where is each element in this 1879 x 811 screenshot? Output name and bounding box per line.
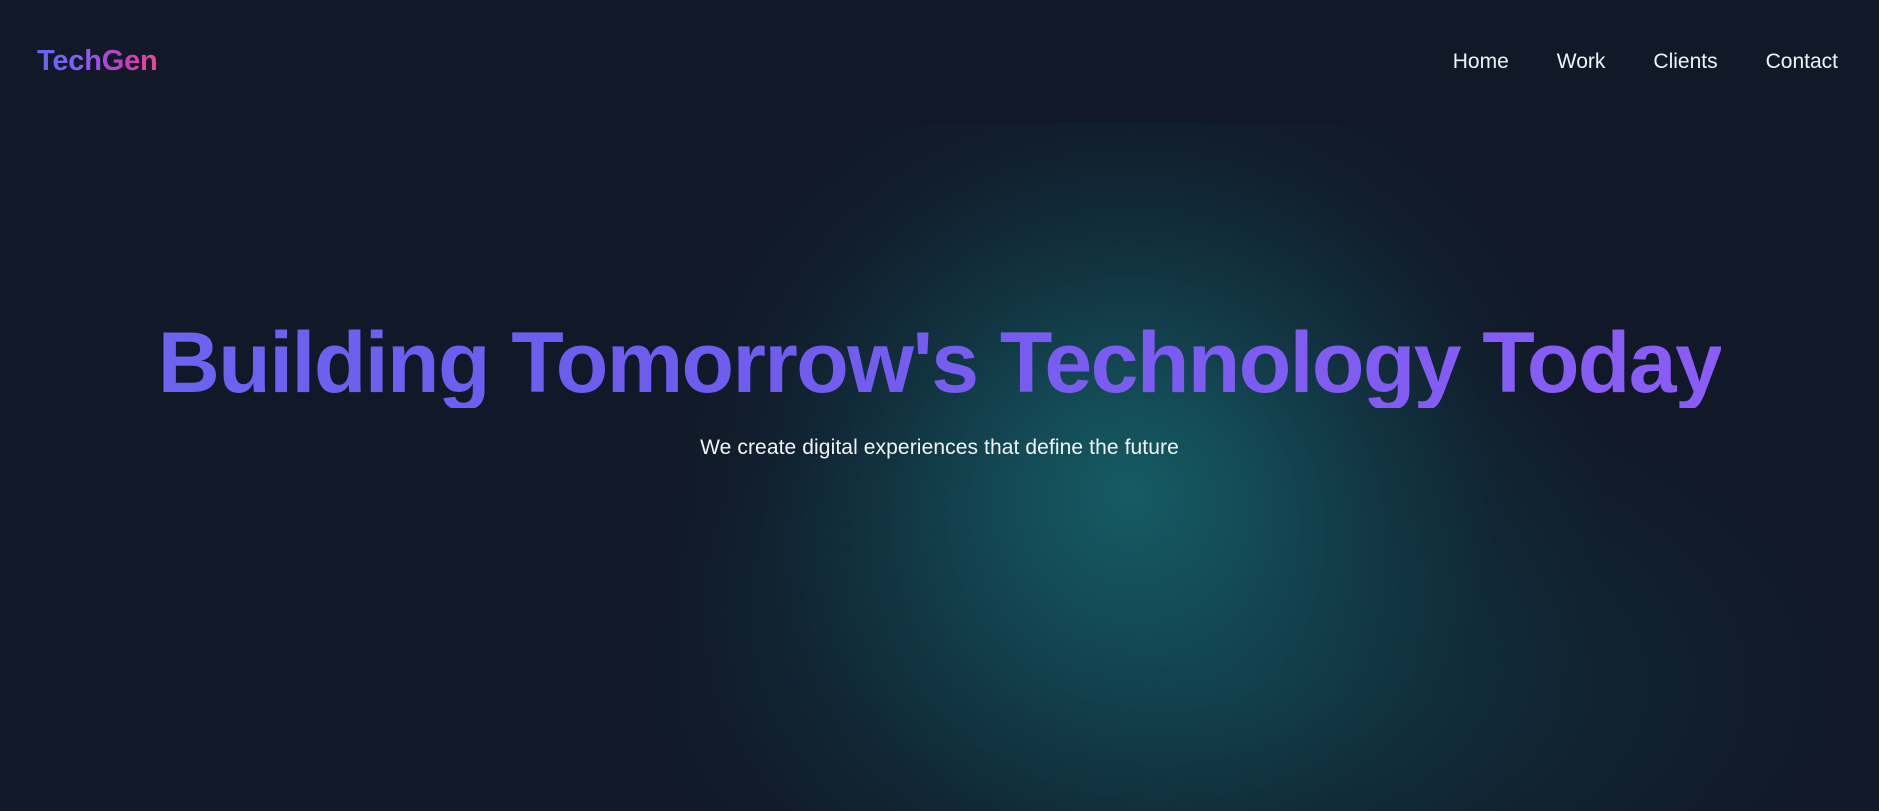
landing-page: TechGen Home Work Clients Contact bbox=[0, 0, 1879, 811]
brand-logo[interactable]: TechGen bbox=[37, 47, 158, 76]
hero-subheadline: We create digital experiences that defin… bbox=[700, 434, 1179, 461]
nav-link-home[interactable]: Home bbox=[1429, 41, 1533, 82]
nav-link-clients[interactable]: Clients bbox=[1629, 41, 1741, 82]
nav-item-contact: Contact bbox=[1742, 41, 1862, 82]
nav-item-work: Work bbox=[1533, 41, 1630, 82]
hero-section: Building Tomorrow's Technology Today We … bbox=[0, 123, 1879, 811]
main-navigation: Home Work Clients Contact bbox=[1429, 41, 1862, 82]
nav-link-work[interactable]: Work bbox=[1533, 41, 1630, 82]
site-header: TechGen Home Work Clients Contact bbox=[0, 0, 1879, 123]
nav-list: Home Work Clients Contact bbox=[1429, 41, 1862, 82]
hero-headline: Building Tomorrow's Technology Today bbox=[158, 320, 1721, 408]
nav-item-clients: Clients bbox=[1629, 41, 1741, 82]
hero-content: Building Tomorrow's Technology Today We … bbox=[0, 123, 1879, 811]
nav-item-home: Home bbox=[1429, 41, 1533, 82]
nav-link-contact[interactable]: Contact bbox=[1742, 41, 1862, 82]
